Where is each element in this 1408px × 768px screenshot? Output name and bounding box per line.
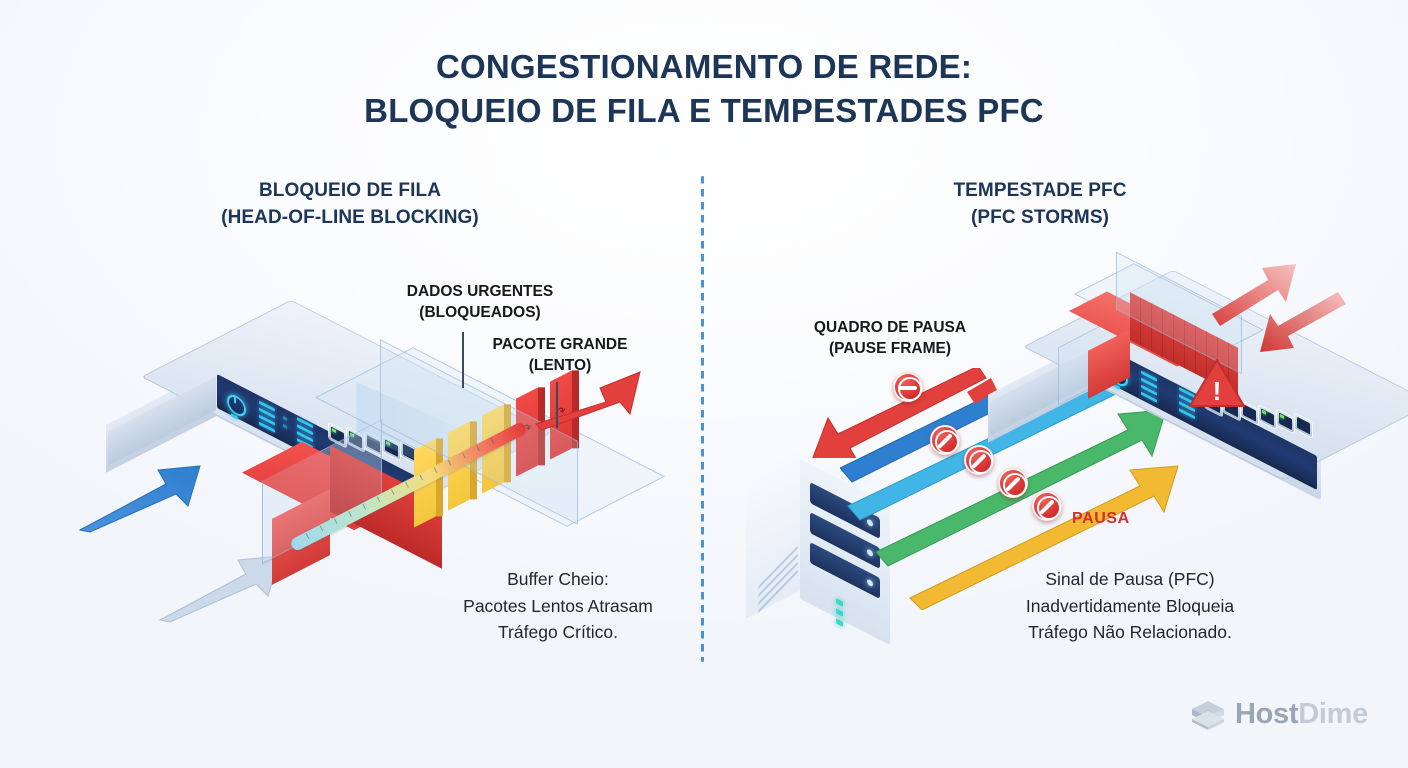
outgoing-traffic-arrow-red <box>534 368 644 430</box>
callout-large-packet-line2: (LENTO) <box>420 355 700 376</box>
pause-badge-no-entry-icon <box>893 372 923 402</box>
logo-text-dime: Dime <box>1298 698 1368 730</box>
callout-urgent-line2: (BLOQUEADOS) <box>340 302 620 323</box>
left-panel-heading: BLOQUEIO DE FILA (HEAD-OF-LINE BLOCKING) <box>140 178 560 232</box>
left-panel-caption: Buffer Cheio: Pacotes Lentos Atrasam Trá… <box>368 566 748 646</box>
right-caption-line2: Inadvertidamente Bloqueia <box>900 593 1360 620</box>
page-title-line1: CONGESTIONAMENTO DE REDE: <box>436 48 972 85</box>
pause-badge-blocked-icon <box>930 425 960 455</box>
callout-pause-frame-line2: (PAUSE FRAME) <box>760 338 1020 359</box>
pause-badge-blocked-icon <box>964 445 994 475</box>
right-panel-caption: Sinal de Pausa (PFC) Inadvertidamente Bl… <box>900 566 1360 646</box>
right-caption-line3: Tráfego Não Relacionado. <box>900 619 1360 646</box>
hostdime-cube-icon <box>1190 699 1226 731</box>
callout-large-packet-line1: PACOTE GRANDE <box>420 334 700 355</box>
left-caption-line3: Tráfego Crítico. <box>368 619 748 646</box>
right-caption-line1: Sinal de Pausa (PFC) <box>900 566 1360 593</box>
callout-large-packet: PACOTE GRANDE (LENTO) <box>420 334 700 377</box>
logo-text-host: Host <box>1235 698 1298 730</box>
pause-badge-blocked-icon <box>998 468 1028 498</box>
page-title-line2: BLOQUEIO DE FILA E TEMPESTADES PFC <box>0 89 1408 133</box>
right-panel-heading-line1: TEMPESTADE PFC <box>830 178 1250 205</box>
page-title: CONGESTIONAMENTO DE REDE: BLOQUEIO DE FI… <box>0 45 1408 132</box>
server-side-face <box>746 450 802 619</box>
callout-urgent-line1: DADOS URGENTES <box>340 281 620 302</box>
left-panel-heading-line1: BLOQUEIO DE FILA <box>140 178 560 205</box>
callout-pause-frame-line1: QUADRO DE PAUSA <box>760 317 1020 338</box>
right-panel-heading: TEMPESTADE PFC (PFC STORMS) <box>830 178 1250 232</box>
left-panel-heading-line2: (HEAD-OF-LINE BLOCKING) <box>140 205 560 232</box>
hostdime-logo: HostDime <box>1190 698 1368 731</box>
left-caption-line1: Buffer Cheio: <box>368 566 748 593</box>
callout-pause-frame: QUADRO DE PAUSA (PAUSE FRAME) <box>760 317 1020 360</box>
pause-badge-blocked-icon <box>1032 491 1062 521</box>
overflow-arrow-down <box>1260 292 1346 352</box>
logo-text: HostDime <box>1235 698 1368 731</box>
infographic-canvas: CONGESTIONAMENTO DE REDE: BLOQUEIO DE FI… <box>0 0 1408 768</box>
overflow-arrows <box>1210 262 1400 392</box>
right-panel-heading-line2: (PFC STORMS) <box>830 205 1250 232</box>
left-caption-line2: Pacotes Lentos Atrasam <box>368 593 748 620</box>
pausa-label: PAUSA <box>1072 510 1130 528</box>
overflow-arrow-up <box>1212 264 1296 326</box>
callout-urgent-data: DADOS URGENTES (BLOQUEADOS) <box>340 281 620 324</box>
leader-line-bigpacket <box>556 382 558 428</box>
